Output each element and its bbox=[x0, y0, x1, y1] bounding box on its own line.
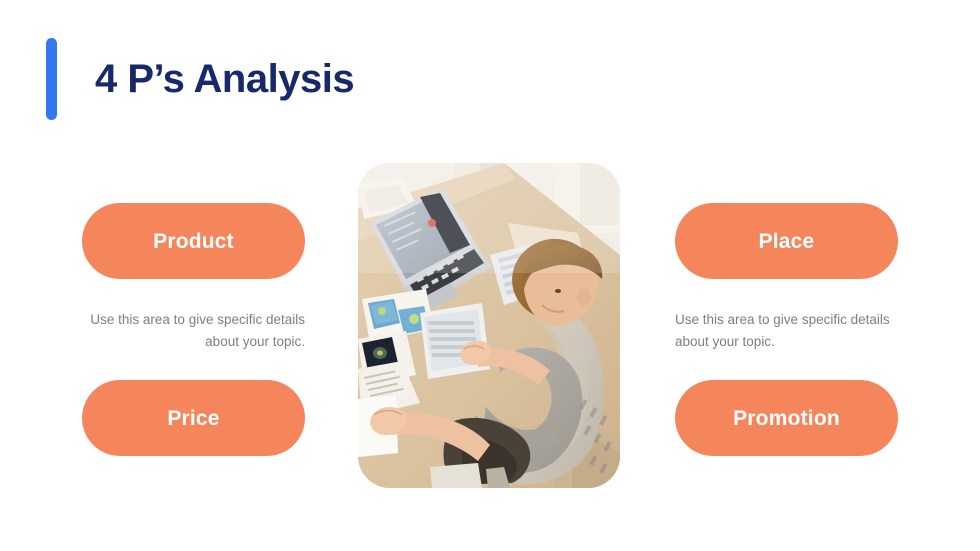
pill-product-label: Product bbox=[153, 231, 234, 252]
pill-place[interactable]: Place bbox=[675, 203, 898, 279]
title-block: 4 P’s Analysis bbox=[46, 38, 354, 120]
pill-promotion-label: Promotion bbox=[733, 408, 840, 429]
pill-price-label: Price bbox=[167, 408, 219, 429]
pill-product[interactable]: Product bbox=[82, 203, 305, 279]
workspace-photo bbox=[358, 163, 620, 488]
slide-canvas: 4 P’s Analysis Product Price Place Promo… bbox=[0, 0, 980, 551]
title-accent-bar bbox=[46, 38, 57, 120]
pill-place-label: Place bbox=[759, 231, 815, 252]
description-left: Use this area to give specific details a… bbox=[82, 309, 305, 353]
workspace-photo-illustration bbox=[358, 163, 620, 488]
pill-price[interactable]: Price bbox=[82, 380, 305, 456]
page-title: 4 P’s Analysis bbox=[95, 59, 354, 99]
description-right: Use this area to give specific details a… bbox=[675, 309, 898, 353]
pill-promotion[interactable]: Promotion bbox=[675, 380, 898, 456]
